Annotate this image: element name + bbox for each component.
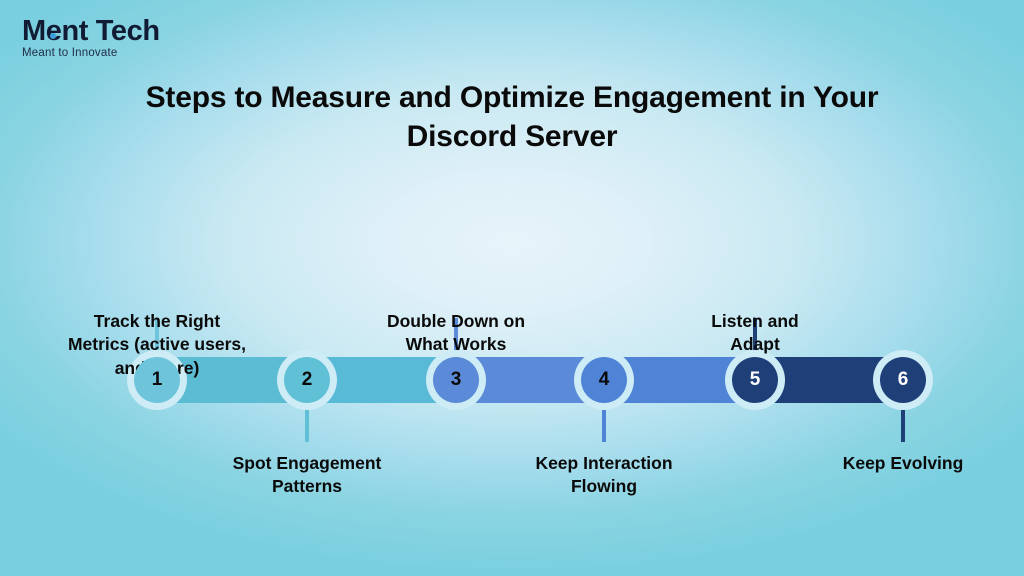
infographic-canvas: Ment Tech Meant to Innovate Steps to Mea… [0, 0, 1024, 576]
step-node-5[interactable]: 5 [732, 357, 778, 403]
step-label-4: Keep Interaction Flowing [524, 452, 684, 499]
step-node-1[interactable]: 1 [134, 357, 180, 403]
step-node-2[interactable]: 2 [284, 357, 330, 403]
process-timeline: 1Track the Right Metrics (active users, … [0, 0, 1024, 576]
step-label-6: Keep Evolving [828, 452, 978, 475]
step-label-2: Spot Engagement Patterns [225, 452, 390, 499]
step-node-3[interactable]: 3 [433, 357, 479, 403]
step-node-6[interactable]: 6 [880, 357, 926, 403]
step-node-4[interactable]: 4 [581, 357, 627, 403]
